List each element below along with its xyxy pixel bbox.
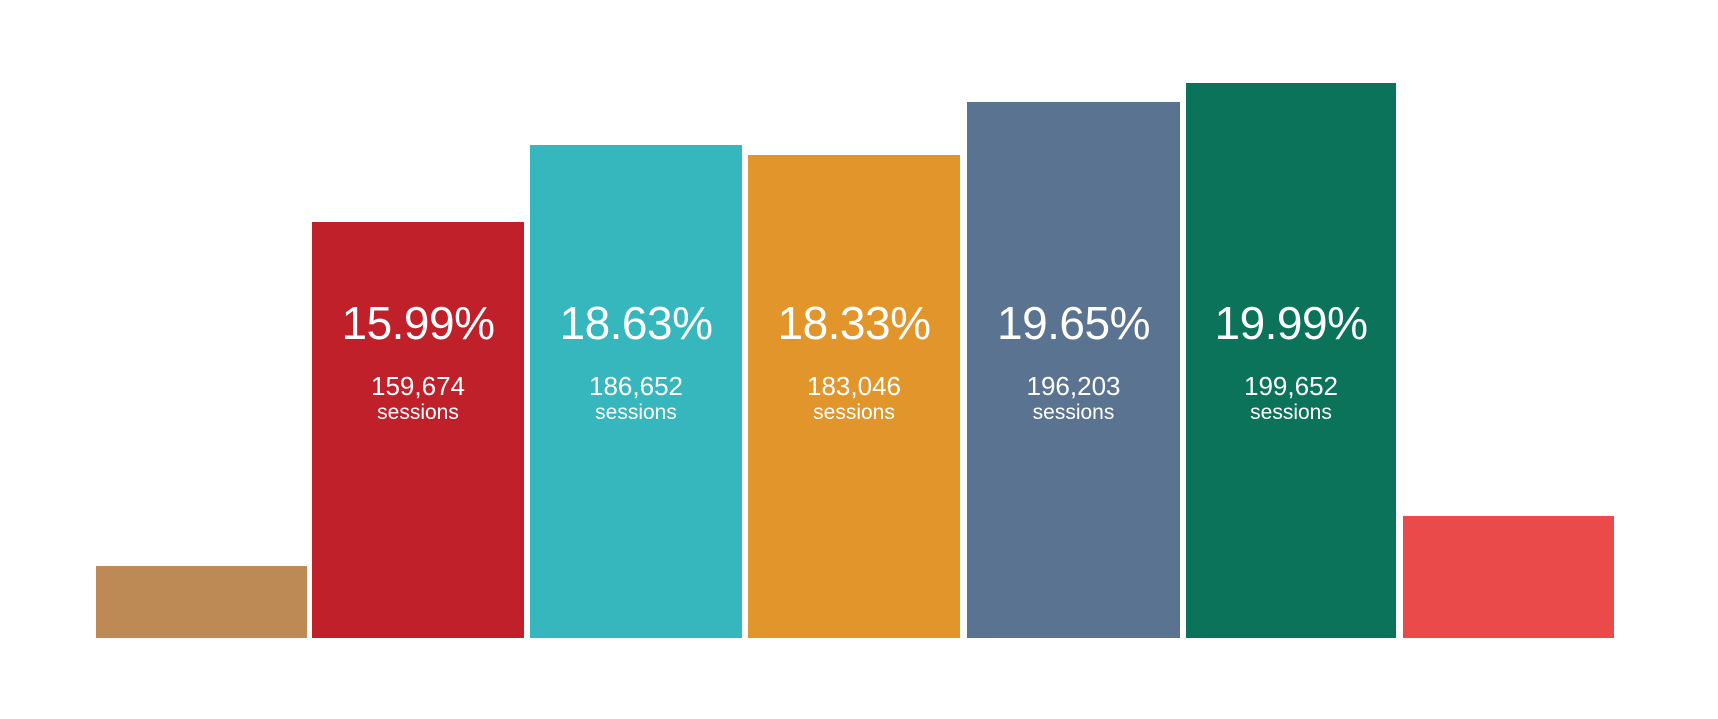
bar-label-group: 19.99%199,652sessions	[1186, 300, 1396, 425]
bar-percent-label: 15.99%	[312, 300, 524, 346]
bar-7[interactable]	[1403, 516, 1614, 638]
bar-chart: 15.99%159,674sessions18.63%186,652sessio…	[0, 0, 1718, 719]
bar-percent-label: 18.63%	[530, 300, 742, 346]
bar-5[interactable]: 19.65%196,203sessions	[967, 102, 1180, 638]
bar-2[interactable]: 15.99%159,674sessions	[312, 222, 524, 638]
bar-6[interactable]: 19.99%199,652sessions	[1186, 83, 1396, 638]
bar-4[interactable]: 18.33%183,046sessions	[748, 155, 960, 638]
bar-sessions-value: 196,203	[967, 372, 1180, 401]
bar-percent-label: 19.99%	[1186, 300, 1396, 346]
bar-label-group: 18.63%186,652sessions	[530, 300, 742, 425]
bar-percent-label: 19.65%	[967, 300, 1180, 346]
bar-sessions-value: 159,674	[312, 372, 524, 401]
bar-sessions-value: 186,652	[530, 372, 742, 401]
bar-1[interactable]	[96, 566, 307, 638]
bar-percent-label: 18.33%	[748, 300, 960, 346]
bar-label-group: 18.33%183,046sessions	[748, 300, 960, 425]
bar-sessions-value: 183,046	[748, 372, 960, 401]
bar-sessions-unit: sessions	[312, 401, 524, 425]
bar-sessions-unit: sessions	[967, 401, 1180, 425]
bar-label-group: 15.99%159,674sessions	[312, 300, 524, 425]
bar-sessions-unit: sessions	[1186, 401, 1396, 425]
bar-sessions-unit: sessions	[748, 401, 960, 425]
bar-sessions-value: 199,652	[1186, 372, 1396, 401]
bar-sessions-unit: sessions	[530, 401, 742, 425]
bar-3[interactable]: 18.63%186,652sessions	[530, 145, 742, 638]
bar-label-group: 19.65%196,203sessions	[967, 300, 1180, 425]
